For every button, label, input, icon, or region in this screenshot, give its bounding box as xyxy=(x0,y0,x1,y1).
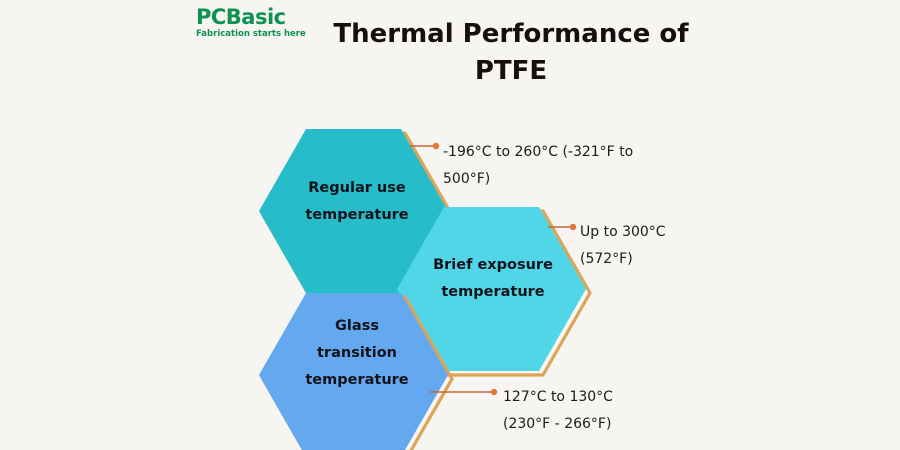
connector-dot-glass-transition xyxy=(491,389,497,395)
callout-brief-exposure-line-2: (572°F) xyxy=(580,246,740,273)
callout-brief-exposure: Up to 300°C (572°F) xyxy=(580,219,740,273)
callout-glass-transition-line-1: 127°C to 130°C xyxy=(503,384,723,411)
callout-regular-use-line-2: 500°F) xyxy=(443,166,693,193)
callout-brief-exposure-line-1: Up to 300°C xyxy=(580,219,740,246)
callout-regular-use: -196°C to 260°C (-321°F to 500°F) xyxy=(443,139,693,193)
connector-dot-regular-use xyxy=(433,143,439,149)
callout-glass-transition: 127°C to 130°C (230°F - 266°F) xyxy=(503,384,723,438)
connector-dot-brief-exposure xyxy=(570,224,576,230)
hexagon-diagram xyxy=(0,0,900,450)
callout-glass-transition-line-2: (230°F - 266°F) xyxy=(503,411,723,438)
callout-regular-use-line-1: -196°C to 260°C (-321°F to xyxy=(443,139,693,166)
